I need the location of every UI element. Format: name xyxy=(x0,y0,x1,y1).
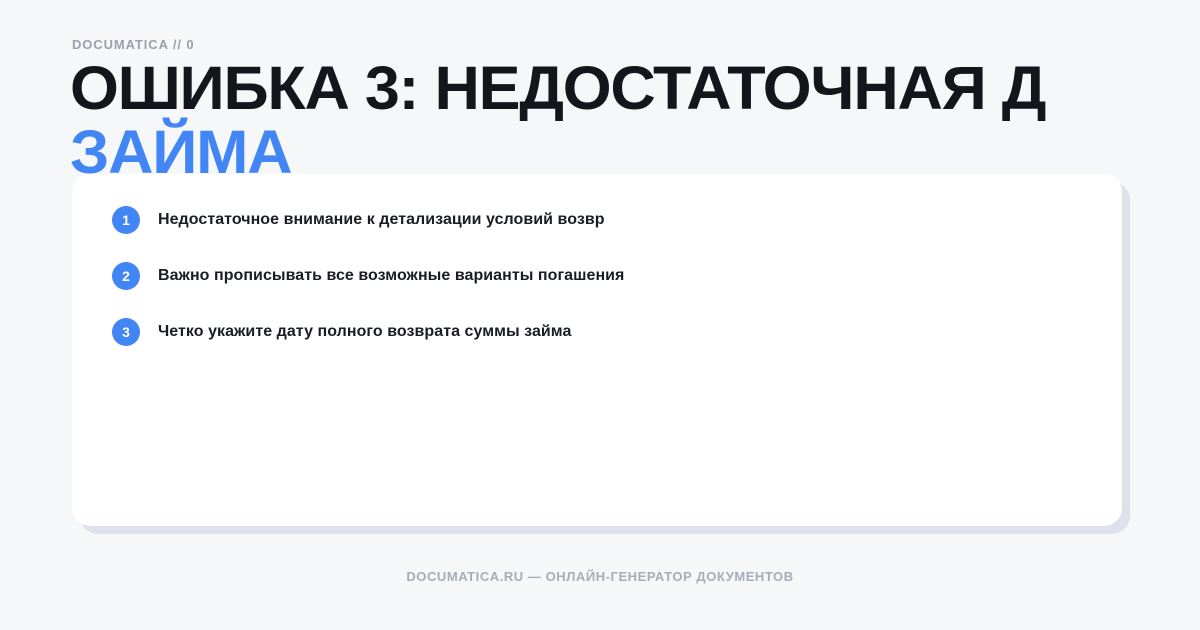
slide-canvas: DOCUMATICA // 0 ОШИБКА 3: НЕДОСТАТОЧНАЯ … xyxy=(0,0,1200,630)
list-item: 3 Четко укажите дату полного возврата су… xyxy=(112,318,1082,346)
bullet-number-badge: 1 xyxy=(112,206,140,234)
page-title: ОШИБКА 3: НЕДОСТАТОЧНАЯ Д ЗАЙМА xyxy=(70,56,1190,184)
bullet-number-badge: 2 xyxy=(112,262,140,290)
bullet-text: Важно прописывать все возможные варианты… xyxy=(158,266,624,286)
bullet-text: Четко укажите дату полного возврата сумм… xyxy=(158,322,571,342)
footer-label: DOCUMATICA.RU — ОНЛАЙН-ГЕНЕРАТОР ДОКУМЕН… xyxy=(0,567,1200,587)
bullet-number-badge: 3 xyxy=(112,318,140,346)
bullet-text: Недостаточное внимание к детализации усл… xyxy=(158,210,605,230)
bullet-list: 1 Недостаточное внимание к детализации у… xyxy=(112,206,1082,346)
content-card: 1 Недостаточное внимание к детализации у… xyxy=(72,174,1122,526)
list-item: 1 Недостаточное внимание к детализации у… xyxy=(112,206,1082,234)
list-item: 2 Важно прописывать все возможные вариан… xyxy=(112,262,1082,290)
page-title-line-1: ОШИБКА 3: НЕДОСТАТОЧНАЯ Д xyxy=(70,56,1200,120)
eyebrow-label: DOCUMATICA // 0 xyxy=(72,36,195,54)
